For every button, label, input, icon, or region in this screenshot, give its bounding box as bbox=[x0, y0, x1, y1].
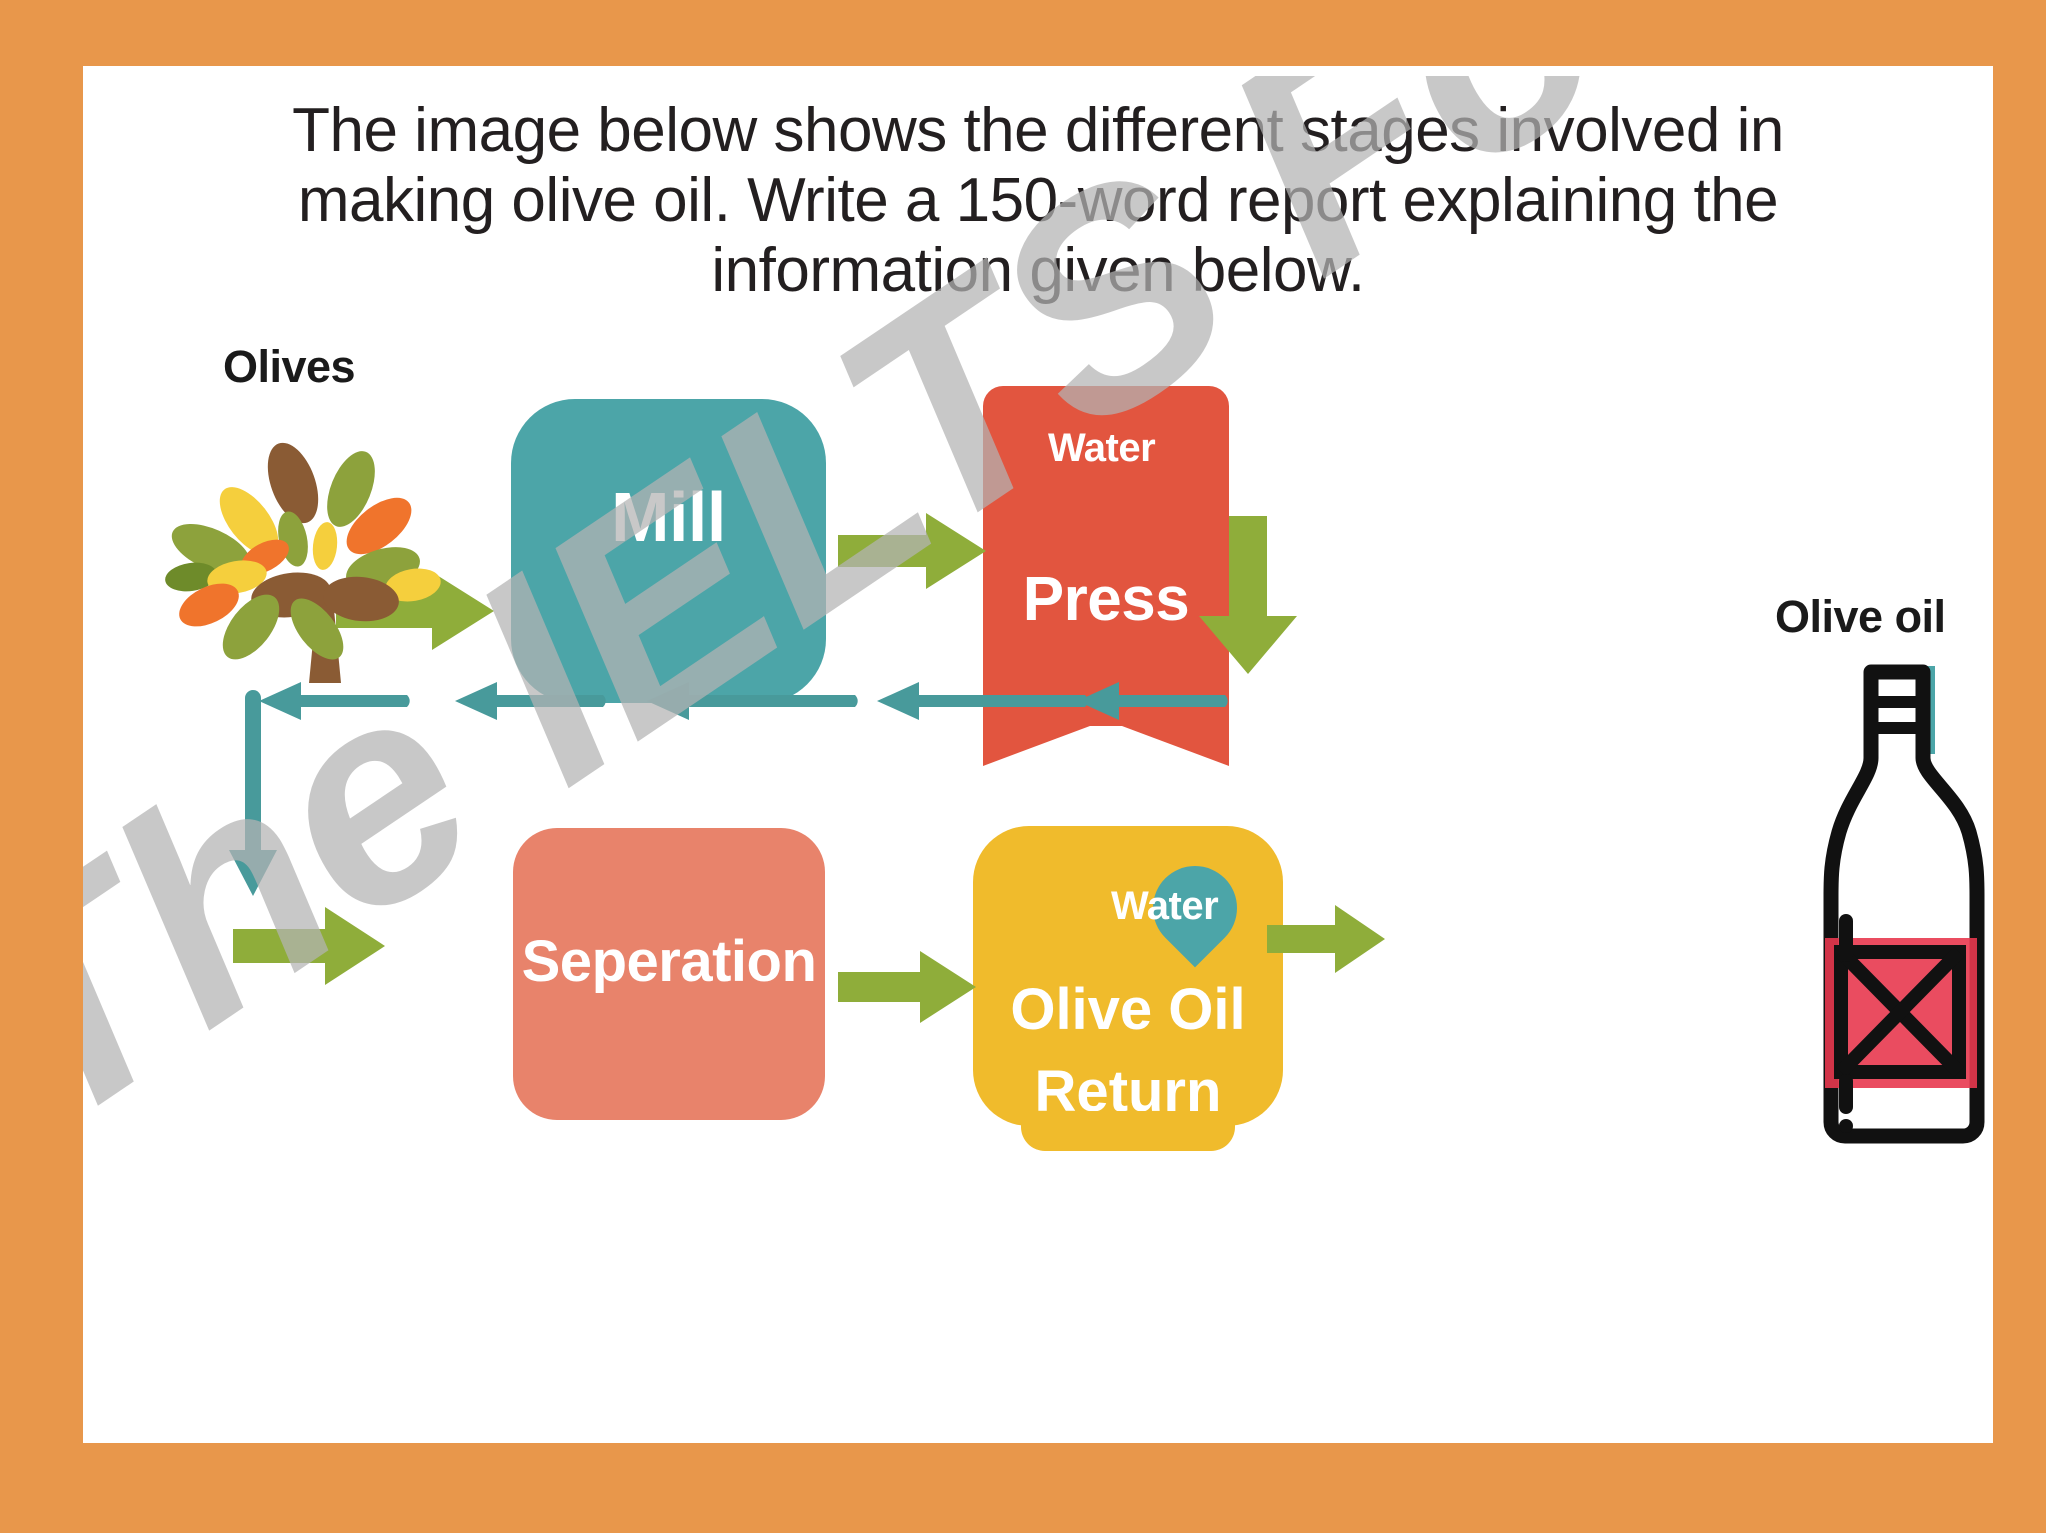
olive-oil-return-foot bbox=[1021, 1111, 1235, 1151]
stage-box-olive-oil-return[interactable]: Olive Oil Return bbox=[973, 826, 1283, 1126]
prompt-text: The image below shows the different stag… bbox=[143, 96, 1933, 306]
olives-label: Olives bbox=[223, 341, 355, 393]
olive-oil-label: Olive oil bbox=[1775, 591, 1946, 643]
arrow-return-3-icon bbox=[643, 676, 863, 726]
stage-box-separation[interactable]: Seperation bbox=[513, 828, 825, 1120]
arrow-press-down-icon bbox=[1193, 516, 1303, 676]
poster-sheet: The image below shows the different stag… bbox=[83, 66, 1993, 1443]
press-water-label: Water bbox=[1048, 426, 1155, 471]
poster-canvas: The image below shows the different stag… bbox=[0, 0, 2046, 1533]
olive-oil-bottle-icon bbox=[1783, 646, 1993, 1146]
arrow-return-to-bottle-icon bbox=[1267, 901, 1387, 977]
prompt-line-3: information given below. bbox=[143, 236, 1933, 306]
arrow-separation-to-return-icon bbox=[838, 946, 978, 1028]
arrow-mill-to-press-icon bbox=[838, 508, 988, 594]
prompt-line-2: making olive oil. Write a 150-word repor… bbox=[143, 166, 1933, 236]
arrow-return-5-icon bbox=[1073, 676, 1233, 726]
olive-oil-return-label-line1: Olive Oil bbox=[973, 976, 1283, 1043]
arrow-to-separation-icon bbox=[233, 901, 388, 991]
press-box-point bbox=[983, 720, 1229, 766]
prompt-line-1: The image below shows the different stag… bbox=[143, 96, 1933, 166]
stage-box-mill[interactable]: Mill bbox=[511, 399, 826, 703]
olive-tree-icon bbox=[165, 421, 495, 691]
mill-label: Mill bbox=[511, 477, 826, 557]
arrow-return-4-icon bbox=[873, 676, 1093, 726]
separation-label: Seperation bbox=[513, 928, 825, 995]
arrow-left-down-icon bbox=[223, 686, 283, 906]
return-water-label: Water bbox=[1111, 884, 1218, 929]
